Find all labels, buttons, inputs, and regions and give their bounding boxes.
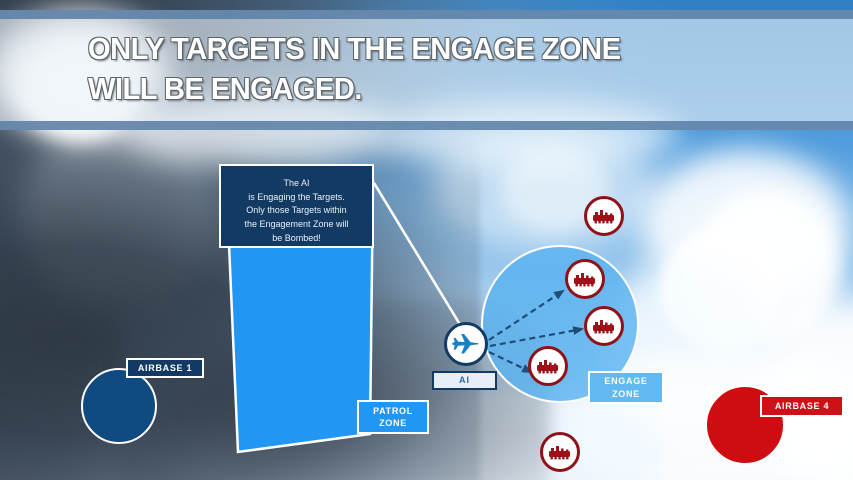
target-marker[interactable] <box>584 196 624 236</box>
target-marker[interactable] <box>528 346 568 386</box>
target-marker[interactable] <box>584 306 624 346</box>
airbase-1-label-text: AIRBASE 1 <box>138 362 192 374</box>
header-rule-bottom <box>0 121 853 130</box>
target-marker[interactable] <box>565 259 605 299</box>
factory-target-icon <box>591 318 617 334</box>
callout-line-5: be Bombed! <box>221 232 372 246</box>
airbase-4-label-text: AIRBASE 4 <box>775 400 829 412</box>
page-title-line-1: ONLY TARGETS IN THE ENGAGE ZONE <box>88 29 746 69</box>
engage-zone-label[interactable]: ENGAGE ZONE <box>588 371 664 404</box>
ai-engagement-callout: The AI is Engaging the Targets. Only tho… <box>219 164 374 248</box>
patrol-zone-label[interactable]: PATROL ZONE <box>357 400 429 434</box>
patrol-zone-label-line-1: PATROL <box>373 405 413 417</box>
header-rule-top <box>0 10 853 19</box>
engage-zone-label-line-2: ZONE <box>612 388 640 400</box>
airbase-4-label[interactable]: AIRBASE 4 <box>760 395 844 417</box>
factory-target-icon <box>535 358 561 374</box>
factory-target-icon <box>547 444 573 460</box>
target-marker[interactable] <box>540 432 580 472</box>
ai-label-text: AI <box>459 374 470 386</box>
fighter-jet-icon <box>451 331 481 357</box>
patrol-zone-label-line-2: ZONE <box>379 417 407 429</box>
airbase-1-label[interactable]: AIRBASE 1 <box>126 358 204 378</box>
page-title-line-2: WILL BE ENGAGED. <box>88 69 746 109</box>
page-title: ONLY TARGETS IN THE ENGAGE ZONE WILL BE … <box>88 29 746 109</box>
slide-canvas: ONLY TARGETS IN THE ENGAGE ZONE WILL BE … <box>0 0 853 480</box>
factory-target-icon <box>591 208 617 224</box>
engage-zone-label-line-1: ENGAGE <box>604 375 647 387</box>
callout-line-2: is Engaging the Targets. <box>221 191 372 205</box>
callout-line-1: The AI <box>221 177 372 191</box>
callout-line-3: Only those Targets within <box>221 204 372 218</box>
aircraft-marker[interactable] <box>444 322 488 366</box>
airbase-1-shape[interactable] <box>81 368 157 444</box>
ai-label[interactable]: AI <box>432 371 497 390</box>
factory-target-icon <box>572 271 598 287</box>
callout-line-4: the Engagement Zone will <box>221 218 372 232</box>
